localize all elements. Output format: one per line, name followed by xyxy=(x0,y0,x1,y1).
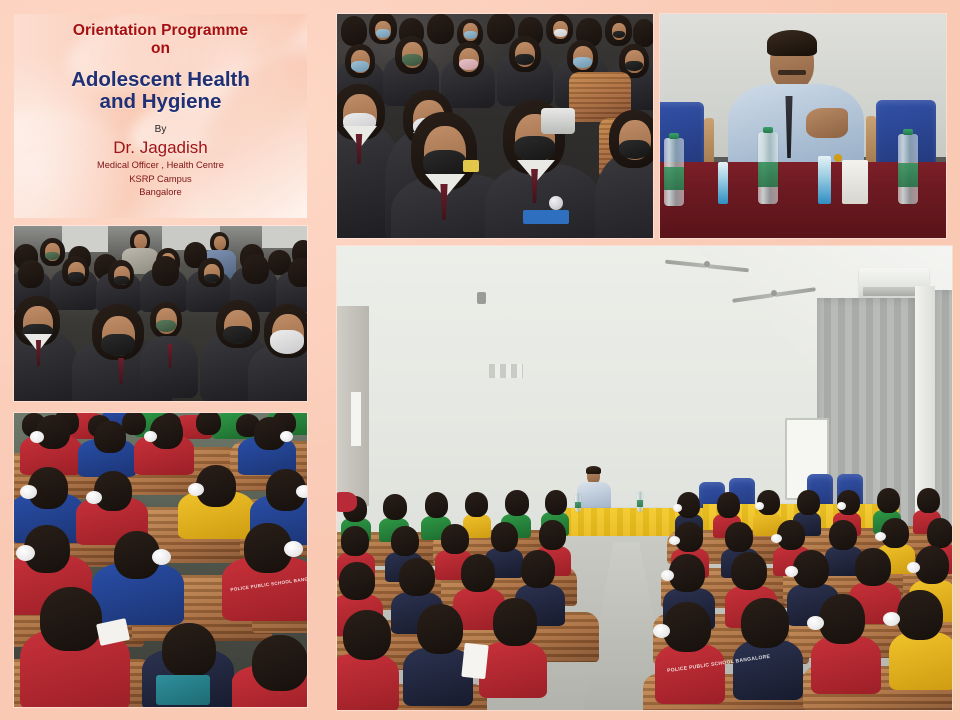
topic-line-2: and Hygiene xyxy=(100,90,222,113)
water-bottle xyxy=(758,132,778,204)
ceiling-fan xyxy=(659,254,755,274)
speaker-moustache xyxy=(778,70,806,75)
water-bottle xyxy=(664,138,684,206)
speaker-hand xyxy=(806,108,848,138)
topic-line-1: Adolescent Health xyxy=(71,68,250,91)
water-bottle-prop xyxy=(541,108,575,134)
house-tshirt-scene: POLICE PUBLIC SCHOOL BANGALORE xyxy=(14,413,307,707)
speaker-scene xyxy=(660,14,946,238)
hair-bow xyxy=(16,545,35,561)
hair-bow xyxy=(188,483,204,496)
sanitizer-bottle xyxy=(718,162,728,204)
water-bottle xyxy=(575,494,581,512)
photo-students-blazers-boys xyxy=(14,226,307,401)
auditorium-scene-boys xyxy=(14,226,307,401)
hair-bow xyxy=(296,485,307,498)
wall-notice xyxy=(489,364,523,378)
tissue-box xyxy=(842,160,868,204)
hall-wide-scene: POLICE PUBLIC SCHOOL BANGALORE xyxy=(337,246,952,710)
book xyxy=(156,675,210,705)
photo-collage: Orientation Programme on Adolescent Heal… xyxy=(0,0,960,720)
photo-speaker xyxy=(660,14,946,238)
hair-bow xyxy=(284,541,303,557)
hair-bow xyxy=(152,549,171,565)
photo-students-blazers-girls xyxy=(337,14,653,238)
hair-bow xyxy=(280,431,293,442)
speaker-hair xyxy=(767,30,817,56)
water-bottle xyxy=(898,134,918,204)
door-light-strip xyxy=(351,392,361,446)
speaker-campus: KSRP Campus xyxy=(14,174,307,186)
sanitizer-bottle xyxy=(818,156,831,204)
title-card: Orientation Programme on Adolescent Heal… xyxy=(14,14,307,218)
speaker-designation: Medical Officer , Health Centre xyxy=(14,160,307,172)
hair-bow xyxy=(20,485,37,499)
auditorium-scene-girls xyxy=(337,14,653,238)
photo-hall-wide: POLICE PUBLIC SCHOOL BANGALORE xyxy=(337,246,952,710)
ceiling-fan xyxy=(729,284,819,302)
yellow-paper xyxy=(463,160,479,172)
red-hairband xyxy=(337,492,357,512)
by-label: By xyxy=(14,124,307,135)
speaker-city: Bangalore xyxy=(14,187,307,199)
programme-heading: Orientation Programme xyxy=(14,22,307,40)
photo-students-house-tshirts: POLICE PUBLIC SCHOOL BANGALORE xyxy=(14,413,307,707)
hair-bow xyxy=(86,491,102,504)
water-bottle xyxy=(637,492,643,512)
wall-sensor xyxy=(477,292,486,304)
handout-paper xyxy=(461,643,488,679)
speaker-name: Dr. Jagadish xyxy=(14,138,307,158)
blue-folder xyxy=(523,210,569,224)
title-text-block: Orientation Programme on Adolescent Heal… xyxy=(14,14,307,199)
topic-title: Adolescent Health and Hygiene xyxy=(14,69,307,113)
hair-bow xyxy=(144,431,157,442)
programme-heading-on: on xyxy=(14,40,307,58)
stage-speaker-torso xyxy=(577,482,611,510)
hair-bow xyxy=(30,431,44,443)
table-ornament xyxy=(834,154,842,162)
stage-speaker-hair xyxy=(586,466,601,474)
